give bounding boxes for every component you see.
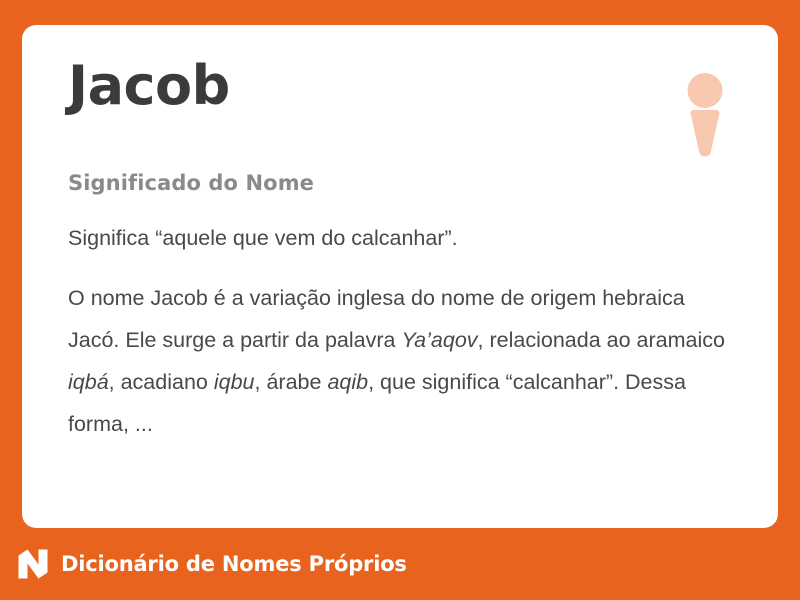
foreign-term-iqbu: iqbu [214, 370, 255, 394]
paragraph-part-2: , relacionada ao aramaico [478, 328, 725, 352]
brand-name-label: Dicionário de Nomes Próprios [61, 552, 407, 576]
foreign-term-yaaqov: Ya’aqov [401, 328, 477, 352]
screenshot-root: Jacob Significado do Nome Significa “aqu… [0, 0, 800, 600]
section-label-meaning: Significado do Nome [68, 169, 734, 197]
origin-paragraph: O nome Jacob é a variação inglesa do nom… [68, 277, 734, 445]
foreign-term-aqib: aqib [327, 370, 368, 394]
paragraph-part-3: , acadiano [109, 370, 214, 394]
meaning-sentence: Significa “aquele que vem do calcanhar”. [68, 223, 734, 253]
person-icon [684, 73, 726, 157]
n-logo-icon [18, 549, 48, 579]
card-header: Jacob [68, 55, 734, 147]
page-title: Jacob [68, 55, 734, 117]
brand-footer: Dicionário de Nomes Próprios [0, 528, 800, 600]
paragraph-part-4: , árabe [255, 370, 328, 394]
foreign-term-iqba: iqbá [68, 370, 109, 394]
name-card: Jacob Significado do Nome Significa “aqu… [22, 25, 778, 528]
